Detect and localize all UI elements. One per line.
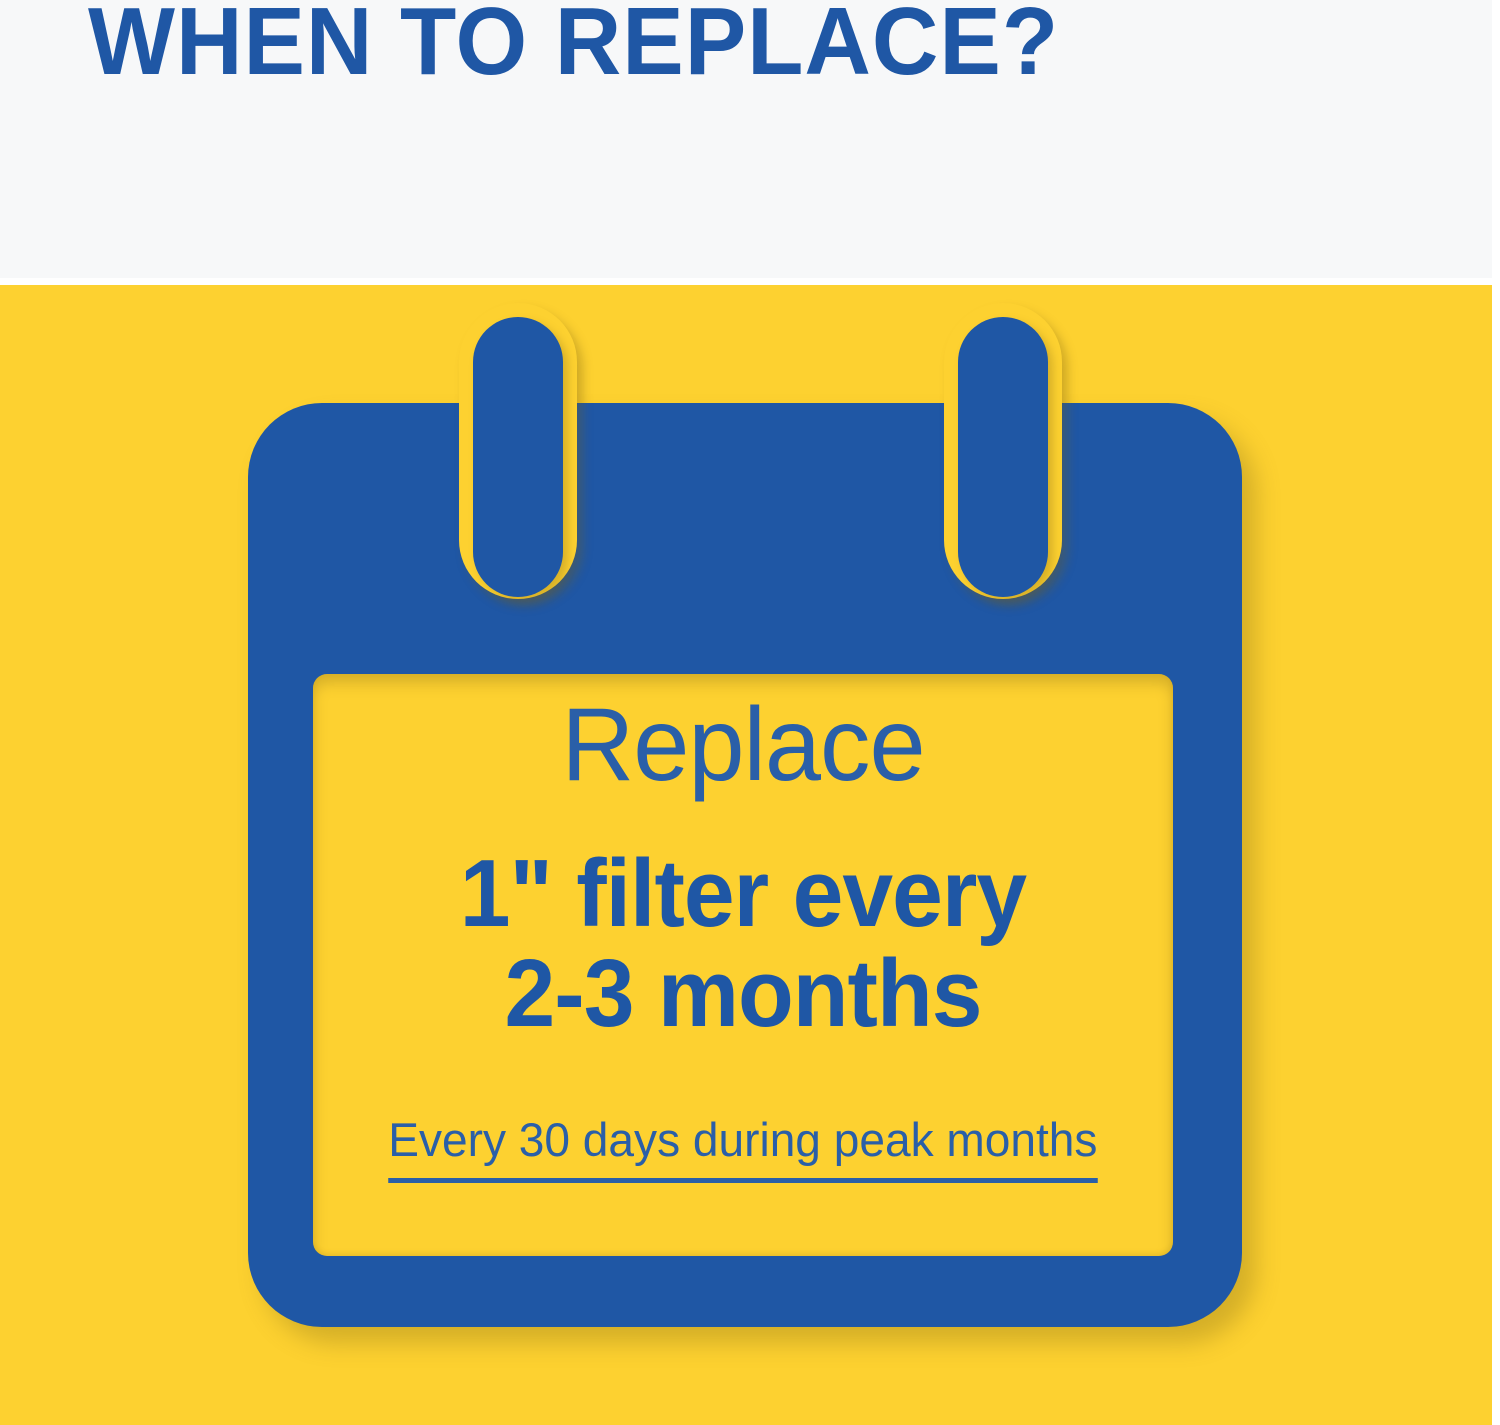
- replace-eyebrow: Replace: [326, 692, 1160, 798]
- replace-headline-line-1: 1" filter every: [460, 840, 1026, 947]
- replace-subnote-wrapper: Every 30 days during peak months: [313, 1114, 1173, 1183]
- header-band: WHEN TO REPLACE?: [0, 0, 1500, 280]
- page-title: WHEN TO REPLACE?: [88, 0, 1059, 90]
- replace-headline: 1" filter every 2-3 months: [335, 844, 1152, 1044]
- replace-headline-line-2: 2-3 months: [335, 944, 1152, 1044]
- infographic-page: WHEN TO REPLACE? Replace: [0, 0, 1500, 1425]
- yellow-stage: Replace 1" filter every 2-3 months Every…: [0, 285, 1492, 1425]
- binder-ring-left: [473, 317, 563, 597]
- header-divider: [0, 278, 1500, 285]
- right-edge-sliver: [1492, 0, 1500, 285]
- calendar-screen: Replace 1" filter every 2-3 months Every…: [313, 674, 1173, 1256]
- calendar-screen-content: Replace 1" filter every 2-3 months Every…: [313, 674, 1173, 1256]
- binder-ring-right: [958, 317, 1048, 597]
- replace-subnote: Every 30 days during peak months: [388, 1114, 1097, 1183]
- calendar-illustration: Replace 1" filter every 2-3 months Every…: [248, 403, 1242, 1327]
